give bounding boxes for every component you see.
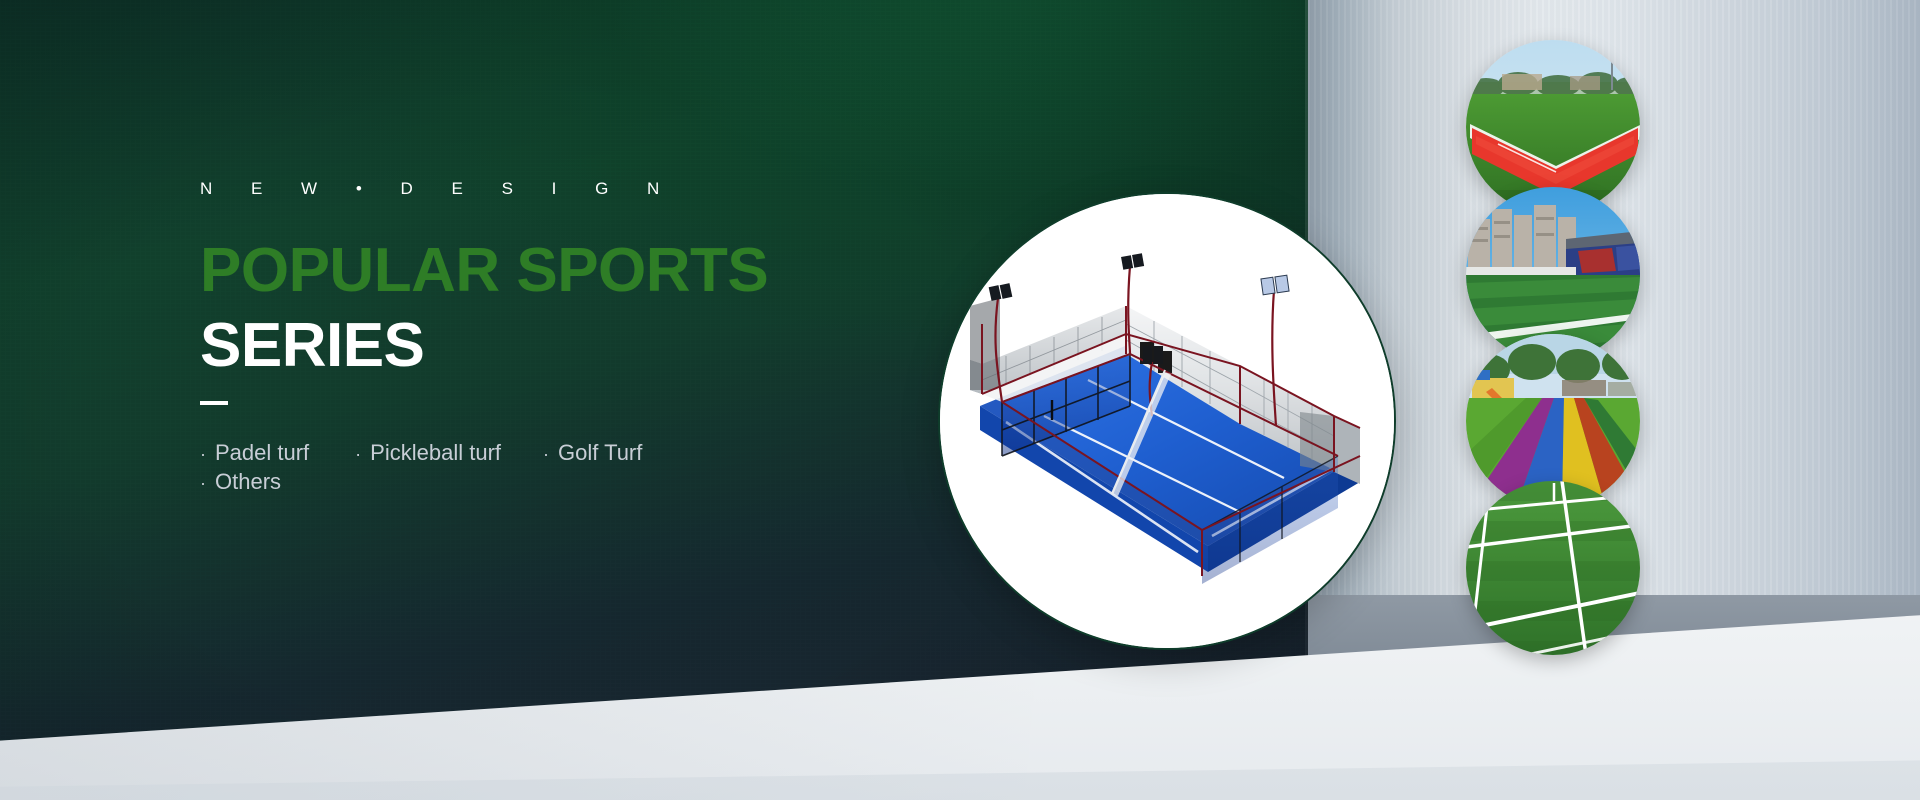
list-item-label: Others xyxy=(215,468,281,496)
page-title-line-1: POPULAR SPORTS xyxy=(200,239,960,302)
bullet-dot-icon: · xyxy=(355,445,361,463)
thumb-tennis-court-turf[interactable] xyxy=(1466,481,1640,655)
title-divider-rule xyxy=(200,401,228,405)
hero-banner: N E W • D E S I G N POPULAR SPORTS SERIE… xyxy=(0,0,1920,800)
list-item-label: Pickleball turf xyxy=(370,439,501,467)
bullet-dot-icon: · xyxy=(200,474,206,492)
thumbnail-strip xyxy=(1466,0,1646,800)
bullet-dot-icon: · xyxy=(200,445,206,463)
bullet-dot-icon: · xyxy=(543,445,549,463)
bullet-row-primary: · Padel turf · Pickleball turf · Golf Tu… xyxy=(200,439,740,467)
padel-court-3d-render xyxy=(940,194,1396,650)
list-item-label: Golf Turf xyxy=(558,439,642,467)
eyebrow-label: N E W • D E S I G N xyxy=(200,180,960,197)
list-item-golf-turf: · Golf Turf xyxy=(543,439,642,467)
headline-block: N E W • D E S I G N POPULAR SPORTS SERIE… xyxy=(200,180,960,496)
hero-product-circle xyxy=(938,192,1396,650)
list-item-others: · Others xyxy=(200,468,281,496)
page-title-line-2: SERIES xyxy=(200,314,960,377)
list-item-label: Padel turf xyxy=(215,439,309,467)
list-item-pickleball-turf: · Pickleball turf xyxy=(355,439,501,467)
bullet-row-secondary: · Others xyxy=(200,468,740,496)
product-bullet-list: · Padel turf · Pickleball turf · Golf Tu… xyxy=(200,439,740,495)
list-item-padel-turf: · Padel turf xyxy=(200,439,309,467)
